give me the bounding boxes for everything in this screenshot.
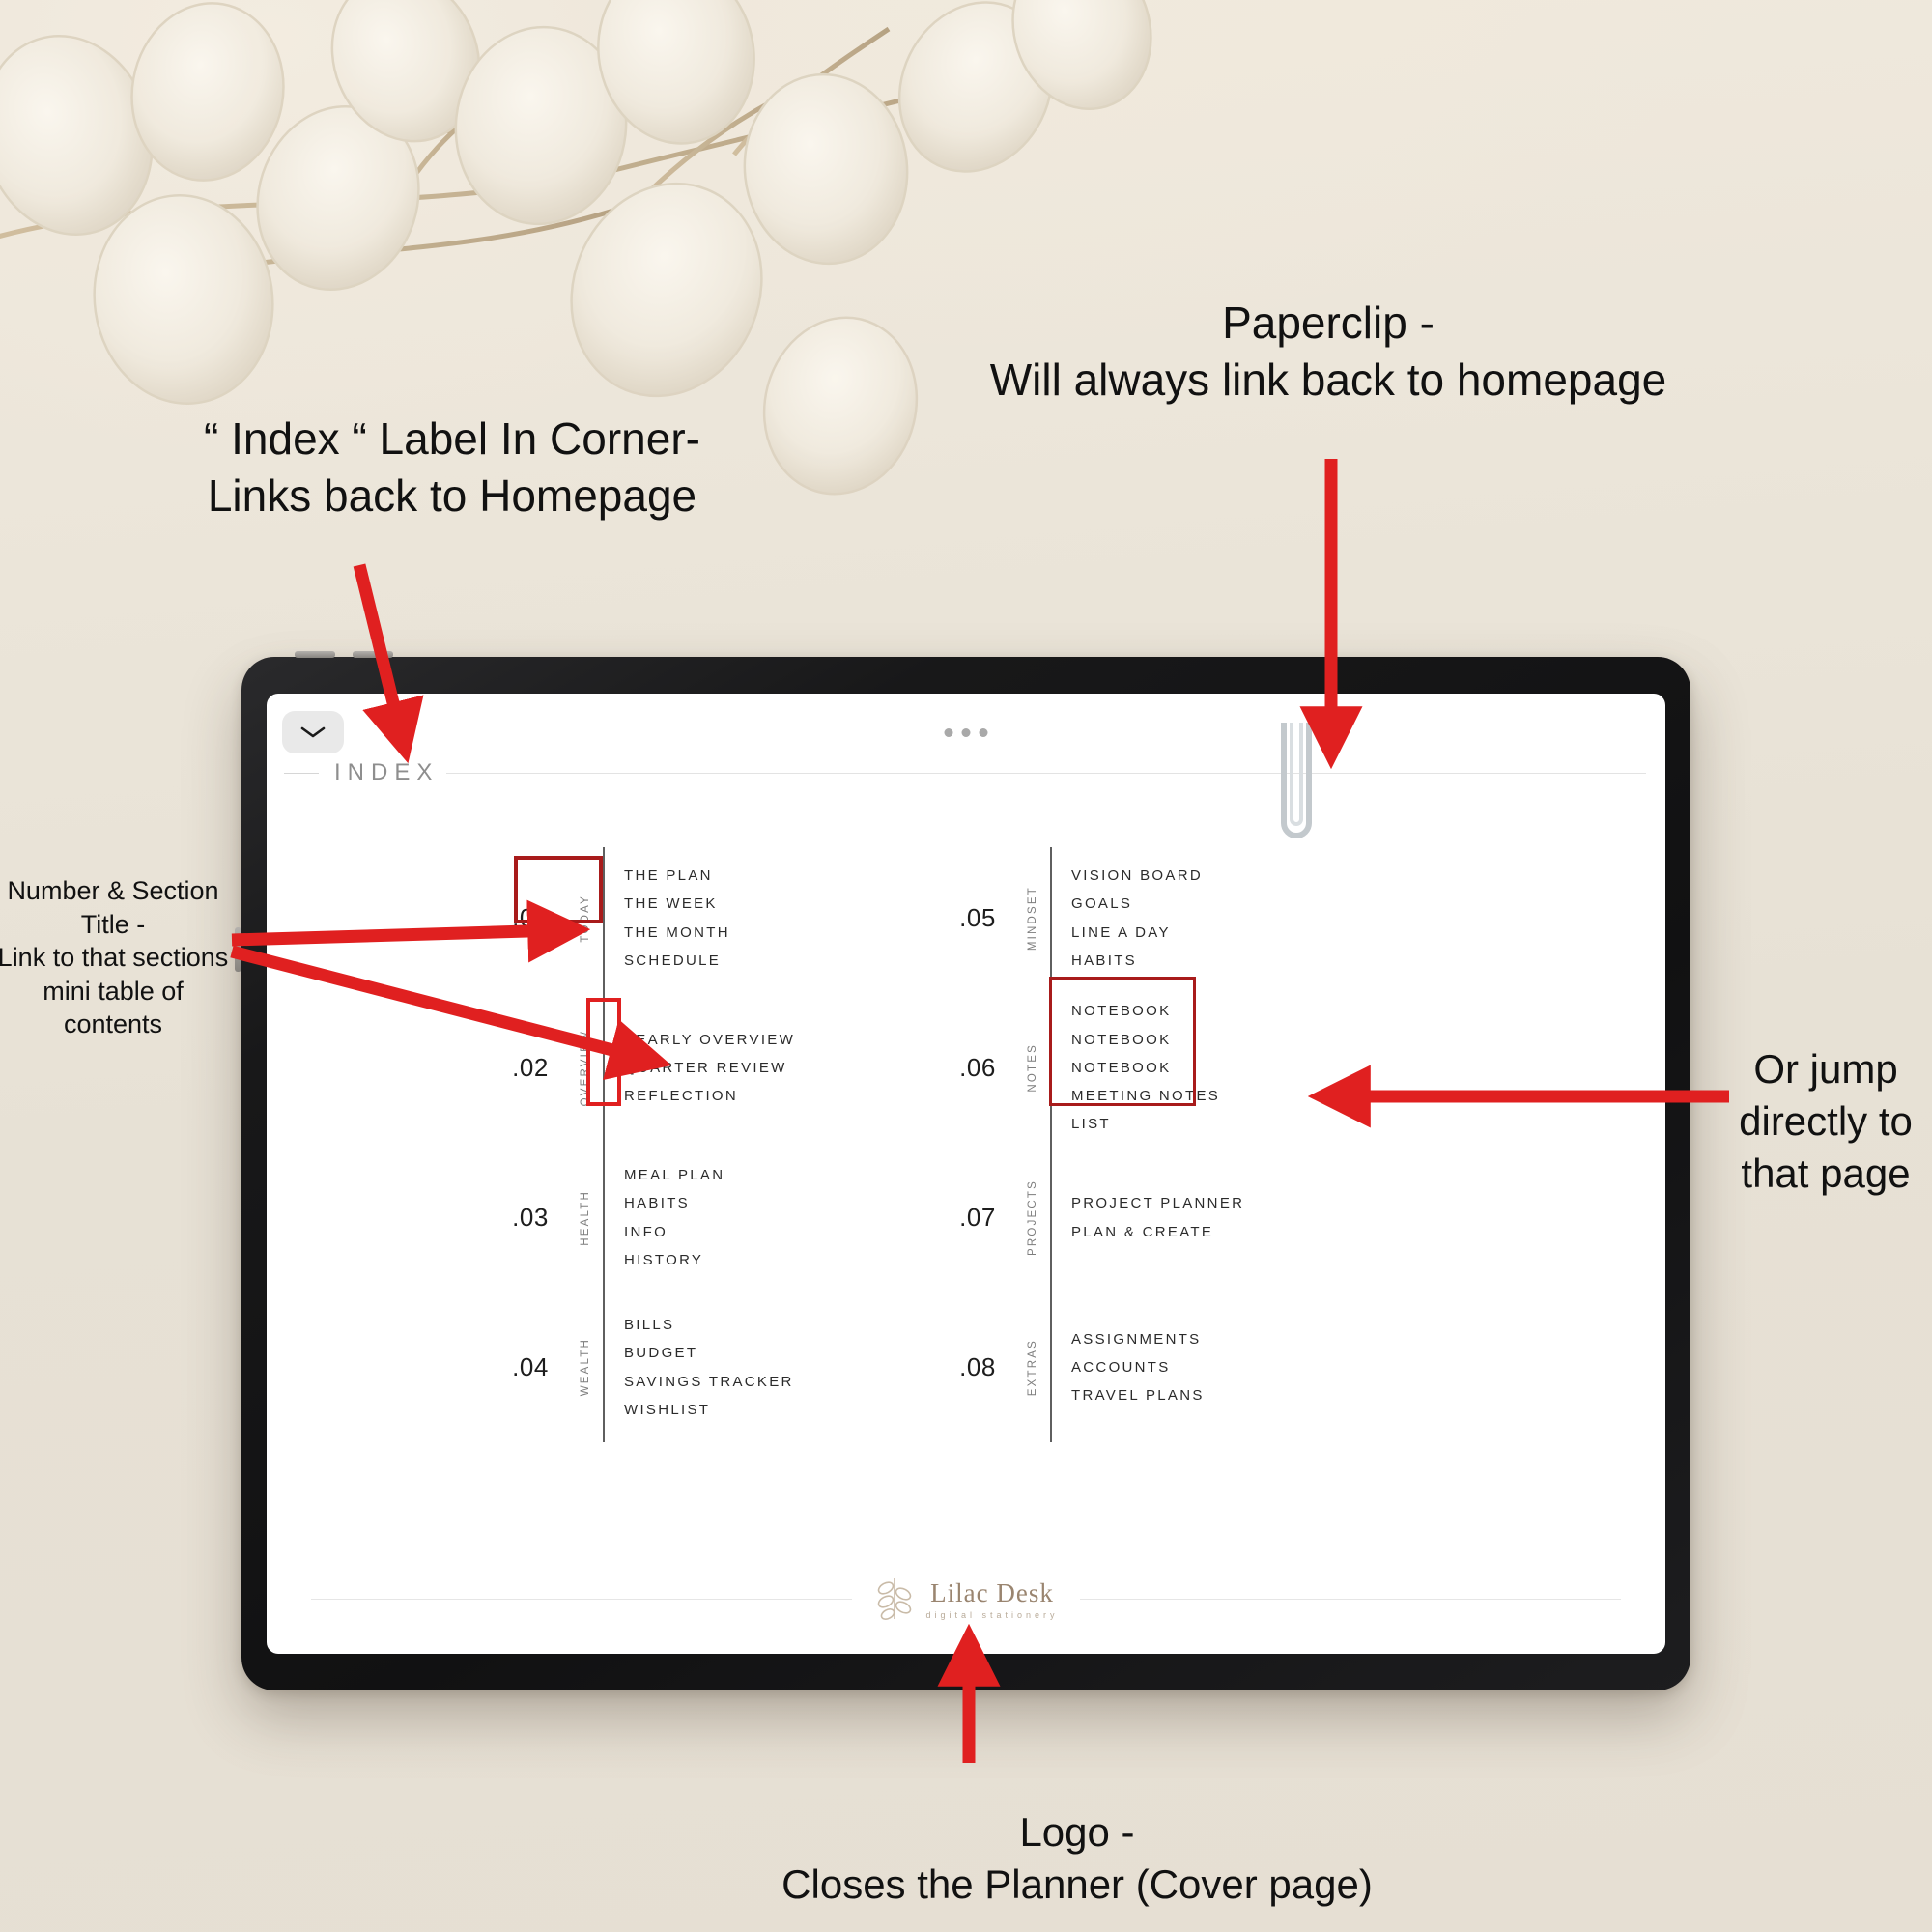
arrow-group: [0, 0, 1932, 1932]
arrow-to-section-title: [232, 952, 642, 1058]
arrow-to-index-label: [359, 565, 401, 734]
screenshot-root: INDEX .01 TODAY THE PLAN THE W: [0, 0, 1932, 1932]
arrow-to-section-number: [232, 930, 560, 940]
